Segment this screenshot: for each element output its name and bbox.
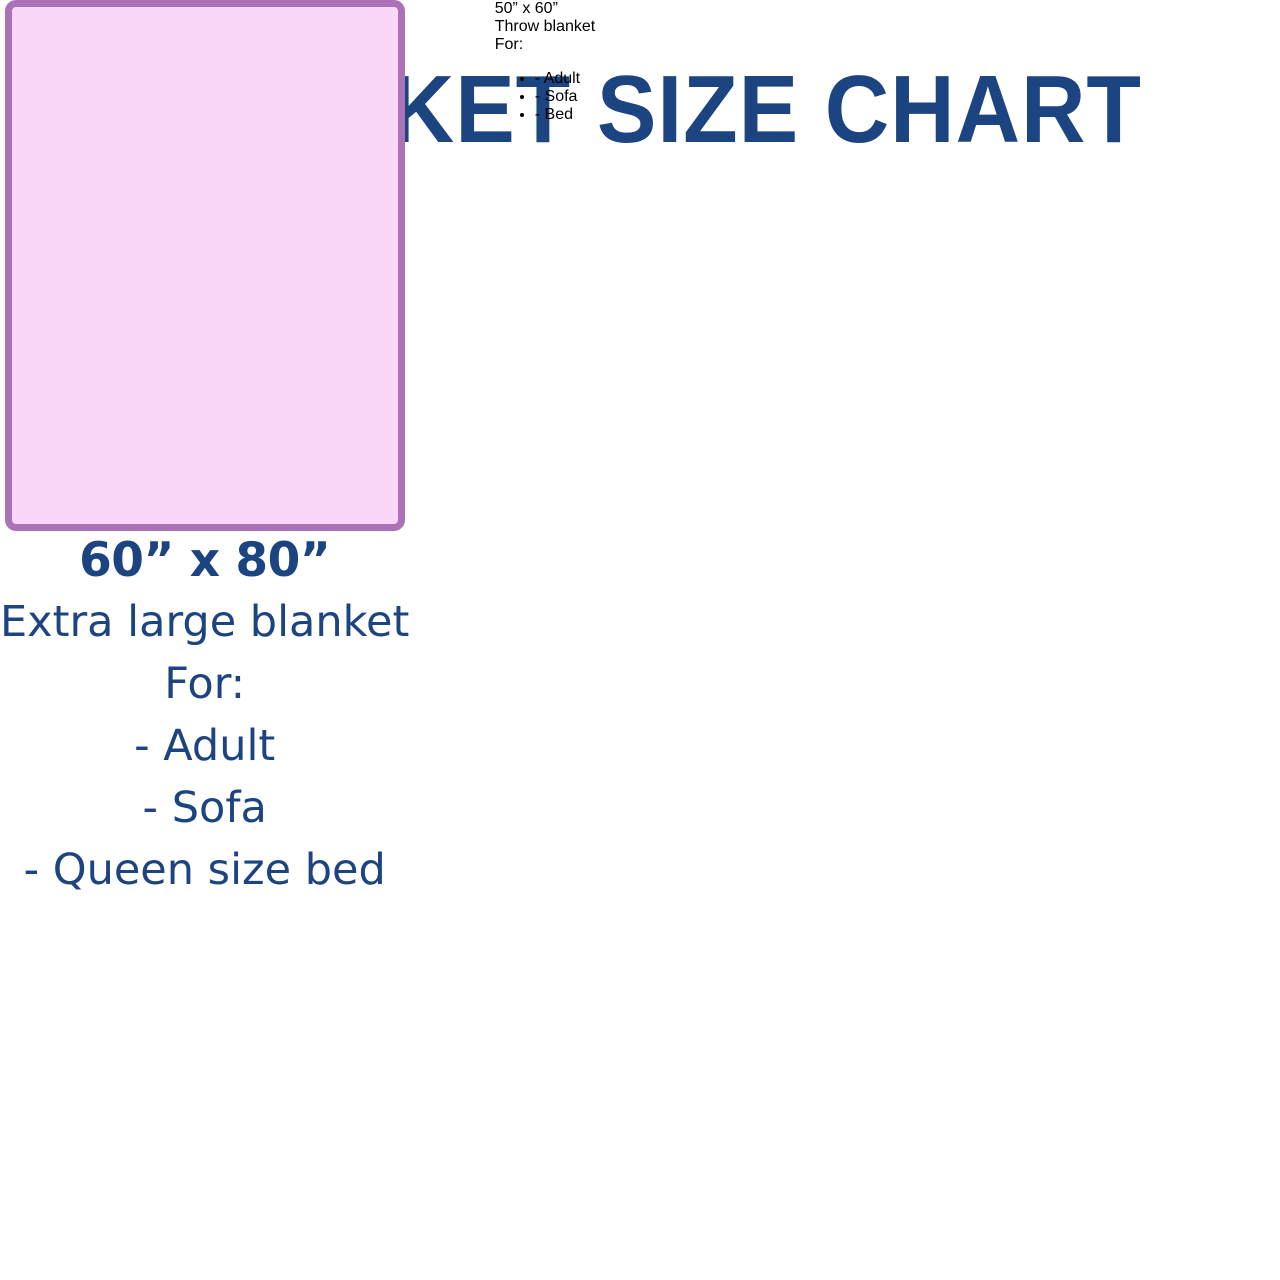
use-list-throw: - Adult - Sofa - Bed — [495, 70, 596, 124]
use-list-extra-large: - Adult - Sofa - Queen size bed — [0, 715, 409, 901]
for-label-extra-large: For: — [0, 653, 409, 715]
use-item: - Queen size bed — [0, 839, 409, 901]
for-label-throw: For: — [495, 36, 596, 54]
use-item: - Bed — [535, 106, 596, 124]
size-column-extra-large: 60” x 80” Extra large blanket For: - Adu… — [0, 0, 409, 901]
size-dimensions-extra-large: 60” x 80” — [0, 531, 409, 591]
blanket-name-throw: Throw blanket — [495, 18, 596, 36]
size-dimensions-throw: 50” x 60” — [495, 0, 596, 18]
size-columns: 30” x 40” Small blanket For: - Baby - Sm… — [0, 0, 1280, 1280]
blanket-size-chart-page: BLANKET SIZE CHART 30” x 40” Small blank… — [0, 0, 1280, 1280]
size-column-throw: 50” x 60” Throw blanket For: - Adult - S… — [355, 0, 735, 140]
use-item: - Sofa — [0, 777, 409, 839]
blanket-swatch-extra-large — [5, 0, 405, 531]
use-item: - Adult — [0, 715, 409, 777]
blanket-name-extra-large: Extra large blanket — [0, 591, 409, 653]
size-column-text-extra-large: 60” x 80” Extra large blanket For: - Adu… — [0, 531, 409, 901]
swatch-wrap-extra-large — [5, 0, 405, 531]
size-column-text-throw: 50” x 60” Throw blanket For: - Adult - S… — [495, 0, 596, 140]
use-item: - Sofa — [535, 88, 596, 106]
use-item: - Adult — [535, 70, 596, 88]
